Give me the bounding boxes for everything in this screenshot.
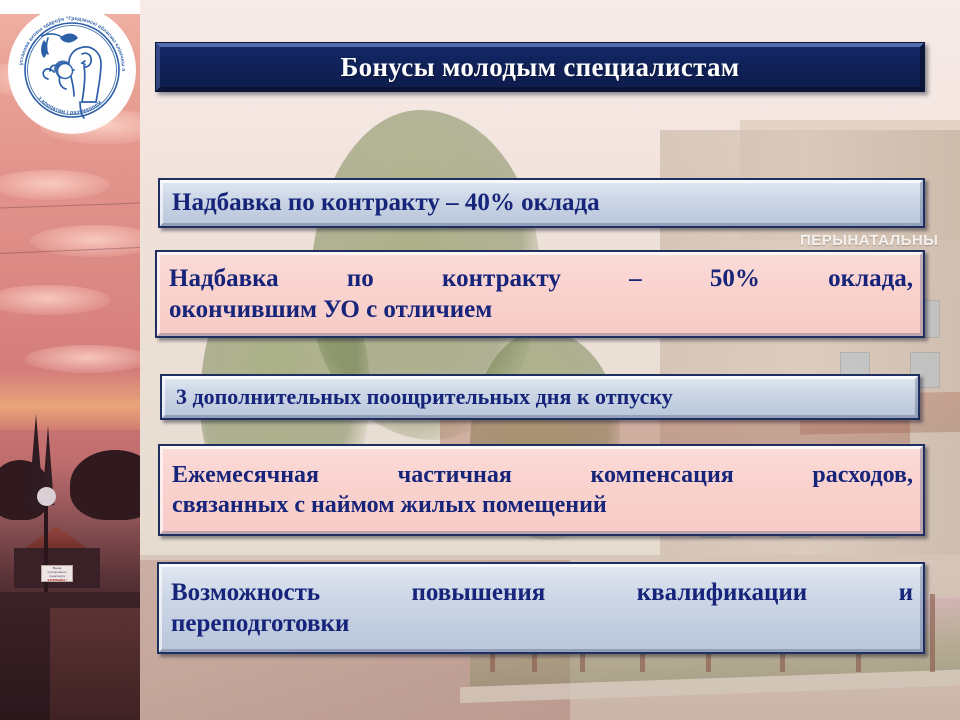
benefit-box-extra-vacation-days[interactable]: 3 дополнительных поощрительных дня к отп… <box>160 374 920 420</box>
benefit-box-housing-compensation[interactable]: Ежемесячная частичная компенсация расход… <box>158 444 925 536</box>
cloud <box>30 225 140 257</box>
benefit-box-text: Ежемесячная частичная компенсация расход… <box>160 458 923 522</box>
plaque-line-3: ЗАПРЕЩЁН ! <box>42 578 72 582</box>
benefit-line: Надбавка по контракту – 50% оклада, <box>169 263 913 294</box>
benefit-line: Ежемесячная частичная компенсация расход… <box>172 460 913 490</box>
benefit-box-contract-bonus-40[interactable]: Надбавка по контракту – 40% оклада <box>158 178 925 228</box>
entrance-sign-plaque: Въезд постороннего транспорта ЗАПРЕЩЁН ! <box>41 565 73 582</box>
slide-title-bar: Бонусы молодым специалистам <box>155 42 925 92</box>
power-wire <box>0 203 140 209</box>
cloud <box>0 285 110 315</box>
silhouette-trees <box>70 450 140 520</box>
organization-logo: установа аховы здароўя "Гродзенскі аблас… <box>8 6 136 134</box>
lamp-globe <box>37 487 56 506</box>
silhouette-brick-path <box>50 608 140 720</box>
benefit-line: 3 дополнительных поощрительных дня к отп… <box>176 383 908 411</box>
benefit-line: окончившим УО с отличием <box>169 294 913 325</box>
benefit-box-training-opportunity[interactable]: Возможность повышения квалификации и пер… <box>157 562 925 654</box>
sunset-glow <box>0 370 140 430</box>
cloud <box>0 170 110 200</box>
benefit-line: Возможность повышения квалификации и <box>171 577 913 608</box>
benefit-box-text: Надбавка по контракту – 50% оклада, окон… <box>157 261 923 328</box>
benefit-line: Надбавка по контракту – 40% оклада <box>172 187 913 218</box>
plaque-line-2: постороннего транспорта <box>42 570 72 578</box>
benefit-line: связанных с наймом жилых помещений <box>172 490 913 520</box>
background-fence-post <box>930 594 935 672</box>
benefit-box-text: Возможность повышения квалификации и пер… <box>159 575 923 642</box>
benefit-box-text: 3 дополнительных поощрительных дня к отп… <box>162 381 918 413</box>
cloud <box>25 345 140 373</box>
logo-emblem-icon: установа аховы здароўя "Гродзенскі аблас… <box>8 6 136 134</box>
benefit-box-contract-bonus-50[interactable]: Надбавка по контракту – 50% оклада, окон… <box>155 250 925 338</box>
benefit-line: переподготовки <box>171 608 913 639</box>
benefit-box-text: Надбавка по контракту – 40% оклада <box>160 185 923 220</box>
building-sign-line-2: ПЕРЫНАТАЛЬНЫ <box>800 232 938 249</box>
page-title: Бонусы молодым специалистам <box>341 52 740 83</box>
slide-canvas: КЛІНІЧНЫ ПЕРЫНАТАЛЬНЫ <box>0 0 960 720</box>
